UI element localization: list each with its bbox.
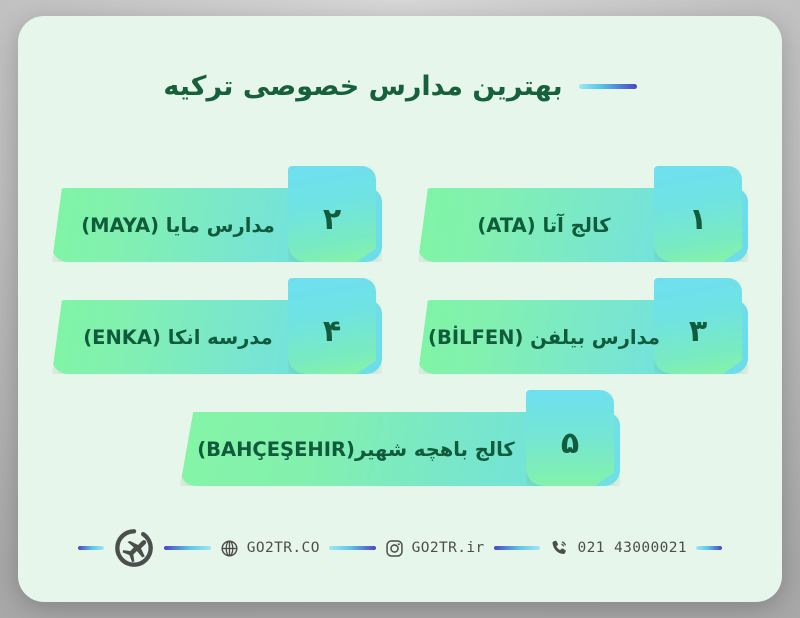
rank-number: ۳ bbox=[689, 305, 707, 347]
list-item[interactable]: ۳ مدارس بیلفن (BİLFEN) bbox=[418, 278, 748, 374]
globe-icon bbox=[220, 539, 239, 558]
footer-instagram[interactable]: GO2TR.ir bbox=[376, 539, 494, 558]
list-row-3: ۵ کالج باهچه شهیر(BAHÇEŞEHIR) bbox=[18, 390, 782, 502]
phone-label: 021 43000021 bbox=[577, 540, 687, 556]
rank-badge: ۱ bbox=[654, 166, 742, 262]
rank-number: ۱ bbox=[689, 193, 707, 235]
list-row-1: ۱ کالج آتا (ATA) ۲ مدارس مایا (MAYA) bbox=[18, 166, 782, 278]
footer-divider-line bbox=[329, 546, 376, 550]
rank-badge: ۳ bbox=[654, 278, 742, 374]
footer-contact-bar: GO2TR.CO GO2TR.ir 021 43000021 bbox=[18, 528, 782, 568]
phone-call-icon bbox=[549, 538, 569, 558]
footer-divider-line bbox=[696, 546, 722, 550]
footer-divider-line bbox=[164, 546, 211, 550]
school-list: ۱ کالج آتا (ATA) ۲ مدارس مایا (MAYA) ۳ م bbox=[18, 166, 782, 502]
rank-number: ۵ bbox=[561, 417, 579, 459]
school-name: مدرسه انکا (ENKA) bbox=[70, 300, 286, 374]
school-name: مدارس بیلفن (BİLFEN) bbox=[436, 300, 652, 374]
rank-number: ۲ bbox=[323, 193, 341, 235]
footer-website[interactable]: GO2TR.CO bbox=[211, 539, 329, 558]
school-name: کالج باهچه شهیر(BAHÇEŞEHIR) bbox=[200, 412, 512, 486]
list-item[interactable]: ۵ کالج باهچه شهیر(BAHÇEŞEHIR) bbox=[180, 390, 620, 486]
rank-badge: ۴ bbox=[288, 278, 376, 374]
website-label: GO2TR.CO bbox=[247, 540, 320, 556]
list-row-2: ۳ مدارس بیلفن (BİLFEN) ۴ مدرسه انکا (ENK… bbox=[18, 278, 782, 390]
footer-phone[interactable]: 021 43000021 bbox=[540, 538, 696, 558]
title-accent-line bbox=[579, 84, 637, 89]
infographic-poster: بهترین مدارس خصوصی ترکیه ۱ کالج آتا (ATA… bbox=[18, 16, 782, 602]
list-item[interactable]: ۲ مدارس مایا (MAYA) bbox=[52, 166, 382, 262]
footer-divider-line bbox=[78, 546, 104, 550]
school-name: کالج آتا (ATA) bbox=[436, 188, 652, 262]
instagram-label: GO2TR.ir bbox=[412, 540, 485, 556]
rank-badge: ۵ bbox=[526, 390, 614, 486]
rank-number: ۴ bbox=[323, 305, 341, 347]
brand-logo bbox=[104, 528, 164, 568]
school-name: مدارس مایا (MAYA) bbox=[70, 188, 286, 262]
rank-badge: ۲ bbox=[288, 166, 376, 262]
list-item[interactable]: ۴ مدرسه انکا (ENKA) bbox=[52, 278, 382, 374]
instagram-icon bbox=[385, 539, 404, 558]
footer-divider-line bbox=[494, 546, 541, 550]
list-item[interactable]: ۱ کالج آتا (ATA) bbox=[418, 166, 748, 262]
page-title-row: بهترین مدارس خصوصی ترکیه bbox=[18, 58, 782, 114]
page-title: بهترین مدارس خصوصی ترکیه bbox=[163, 71, 562, 102]
